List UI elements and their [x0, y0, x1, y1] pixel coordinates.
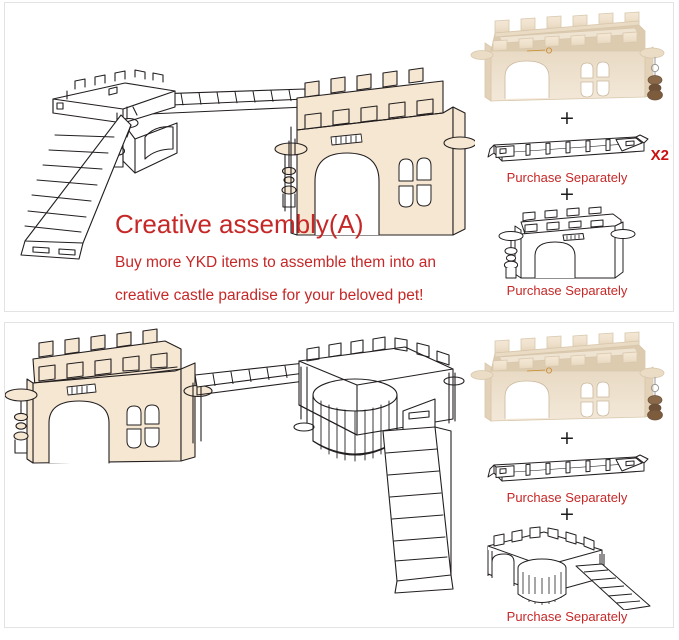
panel-b-component-list: + — [467, 323, 667, 624]
bridge-ladder-drawing — [484, 129, 650, 171]
component-castle-hideout — [467, 7, 667, 107]
assembly-scene-b — [5, 323, 475, 627]
purchase-separately-label-tower: Purchase Separately — [467, 610, 667, 624]
component-bridge-ladder: Purchase Separately — [467, 449, 667, 505]
component-small-castle-house: Purchase Separately — [467, 204, 667, 298]
assembly-panel-a: Creative assembly(A) Buy more YKD items … — [4, 2, 674, 312]
purchase-separately-label-bridge: Purchase Separately — [467, 171, 667, 185]
panel-a-component-list: + — [467, 3, 667, 298]
quantity-badge-x2: X2 — [651, 147, 669, 164]
component-bridge-ladder: X2 Purchase Separately — [467, 129, 667, 185]
castle-hideout-photo — [469, 327, 665, 427]
panel-a-tagline-line1: Buy more YKD items to assemble them into… — [115, 255, 436, 271]
bridge-ladder-drawing — [484, 449, 650, 491]
component-castle-tower-with-ramp: Purchase Separately — [467, 524, 667, 624]
panel-a-tagline-line2: creative castle paradise for your belove… — [115, 288, 423, 304]
plus-separator-1: + — [467, 431, 667, 446]
plus-separator-2: + — [467, 187, 667, 202]
purchase-separately-label-bridge: Purchase Separately — [467, 491, 667, 505]
assembly-illustration-b — [5, 323, 475, 628]
panel-a-title: Creative assembly(A) — [115, 211, 364, 237]
plus-separator-1: + — [467, 111, 667, 126]
castle-tower-with-ramp-drawing — [472, 524, 662, 610]
component-castle-hideout — [467, 327, 667, 427]
castle-hideout-photo — [469, 7, 665, 107]
small-castle-house-drawing — [489, 204, 645, 284]
purchase-separately-label-castle: Purchase Separately — [467, 284, 667, 298]
assembly-panel-b: Creative assembly(B) Buy more YKD items … — [4, 322, 674, 628]
plus-separator-2: + — [467, 507, 667, 522]
